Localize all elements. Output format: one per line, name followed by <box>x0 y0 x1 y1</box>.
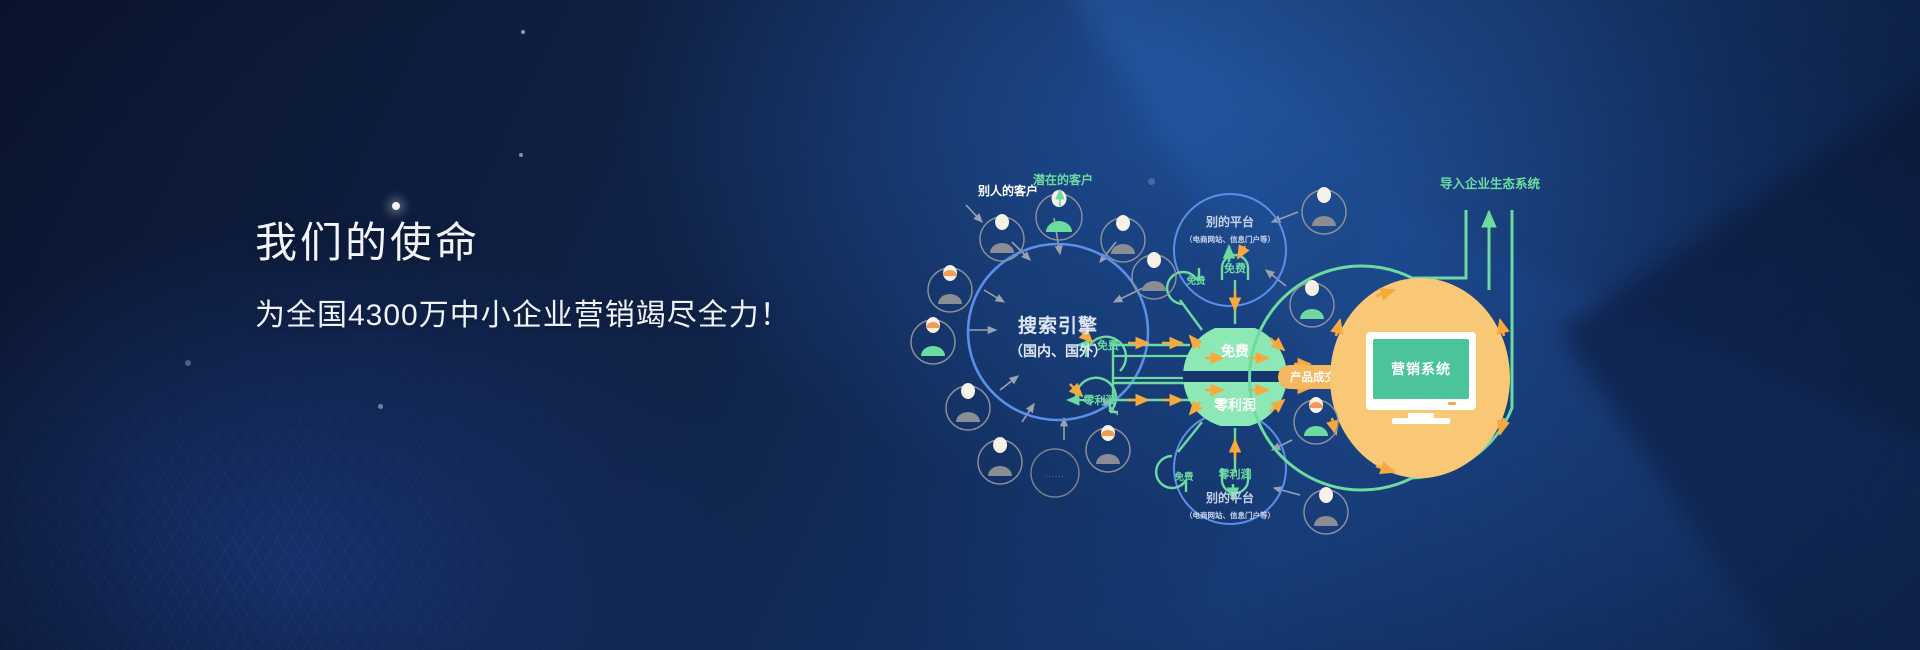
avatar-potential <box>1036 190 1082 240</box>
platform-bottom-title: 别的平台 <box>1205 490 1254 505</box>
page-title: 我们的使命 <box>255 222 791 264</box>
search-engine-subtitle: （国内、国外） <box>1009 343 1107 359</box>
avatar <box>1302 187 1346 234</box>
label-import-ecosystem: 导入企业生态系统 <box>1440 176 1541 191</box>
platform-top-title: 别的平台 <box>1205 214 1254 229</box>
flow-label-free-upper: 免费 <box>1097 338 1119 352</box>
avatar <box>928 265 972 312</box>
hub-free-label: 免费 <box>1221 343 1249 359</box>
ecosystem-diagram: ...... <box>900 150 1620 550</box>
platform-bottom-badge: 零利润 <box>1218 467 1252 481</box>
page-subtitle: 为全国4300万中小企业营销竭尽全力！ <box>255 301 791 331</box>
avatar <box>911 317 955 364</box>
flow-label-zero-profit: 零利润 <box>1083 393 1117 407</box>
platform-bottom-subtitle: （电商网站、信息门户等） <box>1185 510 1275 520</box>
ellipsis-node-label: ...... <box>1045 470 1064 479</box>
flow-label-free-branch-top: 免费 <box>1186 275 1206 287</box>
hub-divider <box>1183 371 1287 382</box>
avatar-group-left <box>911 190 1176 484</box>
platform-top-subtitle: （电商网站、信息门户等） <box>1185 234 1275 244</box>
avatar <box>1101 215 1145 262</box>
avatar <box>1304 487 1348 534</box>
ecosystem-loop-top <box>1412 210 1466 278</box>
sparkle-dot <box>521 30 525 34</box>
deal-pill-label: 产品成交 <box>1290 370 1336 384</box>
avatar <box>980 214 1024 261</box>
sparkle-dot <box>185 360 191 366</box>
search-engine-title: 搜索引擎 <box>1018 314 1098 337</box>
sparkle-dot <box>519 153 523 157</box>
hero-banner: 我们的使命 为全国4300万中小企业营销竭尽全力！ <box>0 0 1920 650</box>
sparkle-dot-glow <box>392 202 400 210</box>
avatar <box>1132 252 1176 299</box>
hero-text-block: 我们的使命 为全国4300万中小企业营销竭尽全力！ <box>255 222 791 331</box>
avatar <box>978 437 1022 484</box>
label-potential-customers: 潜在的客户 <box>1033 172 1093 187</box>
sparkle-dot <box>378 404 383 409</box>
label-others-customers: 别人的客户 <box>977 183 1038 198</box>
marketing-system-label: 营销系统 <box>1391 361 1451 377</box>
platform-top-badge: 免费 <box>1224 261 1246 275</box>
platform-bottom-circle <box>1174 412 1286 524</box>
avatar <box>1086 425 1130 472</box>
avatar <box>946 383 990 430</box>
hub-zero-profit-label: 零利润 <box>1213 397 1256 413</box>
flow-label-free-branch-bottom: 免费 <box>1174 471 1194 483</box>
